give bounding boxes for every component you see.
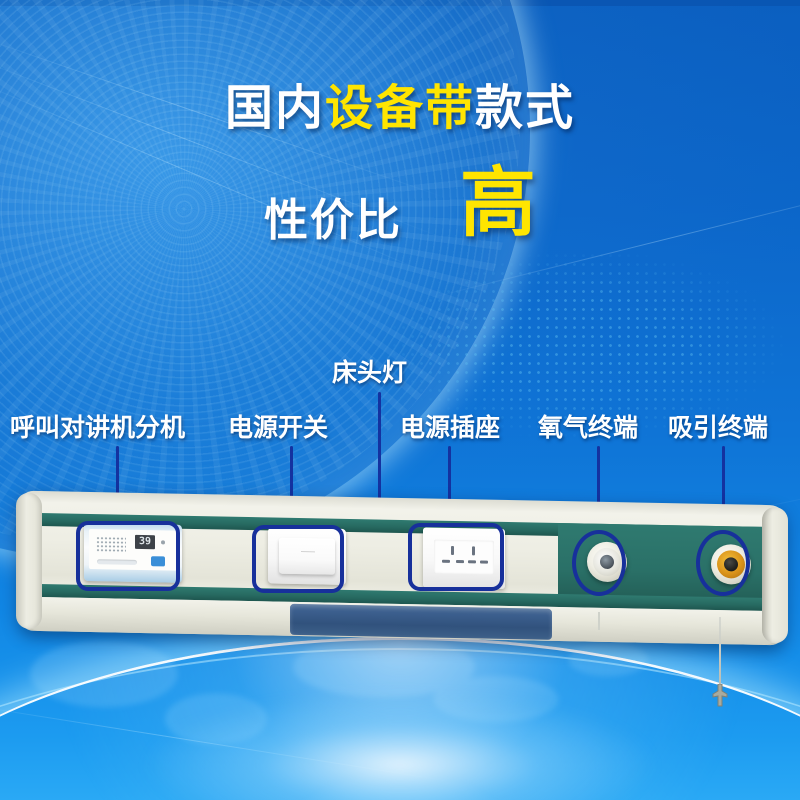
callout-label-bed-lamp: 床头灯 xyxy=(332,360,407,385)
promo-banner: 国内设备带款式 性价比高 呼叫对讲机分机 电源开关 床头灯 电源插座 氧气终端 … xyxy=(0,0,800,800)
bed-lamp-diffuser xyxy=(290,604,552,640)
headline-part1: 国内 xyxy=(225,80,325,136)
callout-label-intercom: 呼叫对讲机分机 xyxy=(10,415,185,440)
highlight-box-intercom xyxy=(76,521,180,591)
suction-pull-cord xyxy=(719,617,721,689)
callout-label-power-switch: 电源开关 xyxy=(228,415,328,440)
callout-label-power-socket: 电源插座 xyxy=(400,415,500,440)
callout-label-suction-terminal: 吸引终端 xyxy=(668,415,768,440)
highlight-box-power-socket xyxy=(408,523,504,591)
subtitle-text: 性价比 xyxy=(264,195,402,246)
headline-part3: 款式 xyxy=(475,80,575,136)
oxygen-hose xyxy=(598,612,600,630)
highlight-circle-suction-terminal xyxy=(696,530,750,596)
headline: 国内设备带款式 xyxy=(0,84,800,132)
panel-end-cap-left xyxy=(16,493,42,629)
subtitle: 性价比高 xyxy=(0,165,800,243)
callout-label-oxygen-terminal: 氧气终端 xyxy=(538,415,638,440)
panel-end-cap-right xyxy=(762,507,788,643)
headline-highlight: 设备带 xyxy=(325,80,475,136)
subtitle-emphasis: 高 xyxy=(460,158,536,247)
cord-end-fitting xyxy=(708,684,732,708)
highlight-circle-oxygen-terminal xyxy=(572,530,626,596)
highlight-box-power-switch xyxy=(252,525,344,593)
